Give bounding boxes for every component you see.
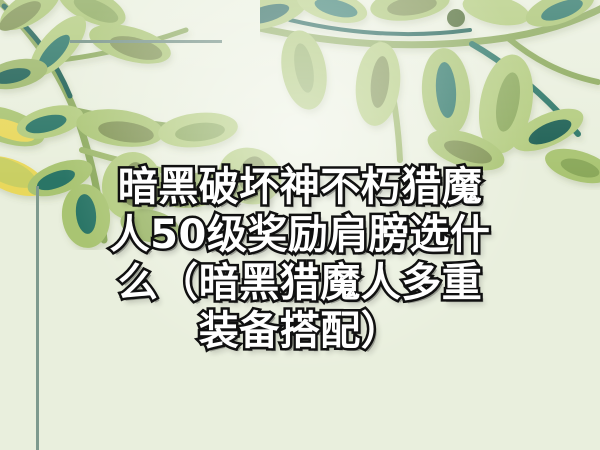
foliage-top-right-icon	[260, 0, 600, 190]
article-banner: 暗黑破坏神不朽猎魔 人50级奖励肩膀选什 么（暗黑猎魔人多重 装备搭配）	[0, 0, 600, 450]
banner-headline: 暗黑破坏神不朽猎魔 人50级奖励肩膀选什 么（暗黑猎魔人多重 装备搭配）	[0, 163, 600, 355]
horizontal-accent-rule	[70, 40, 222, 43]
